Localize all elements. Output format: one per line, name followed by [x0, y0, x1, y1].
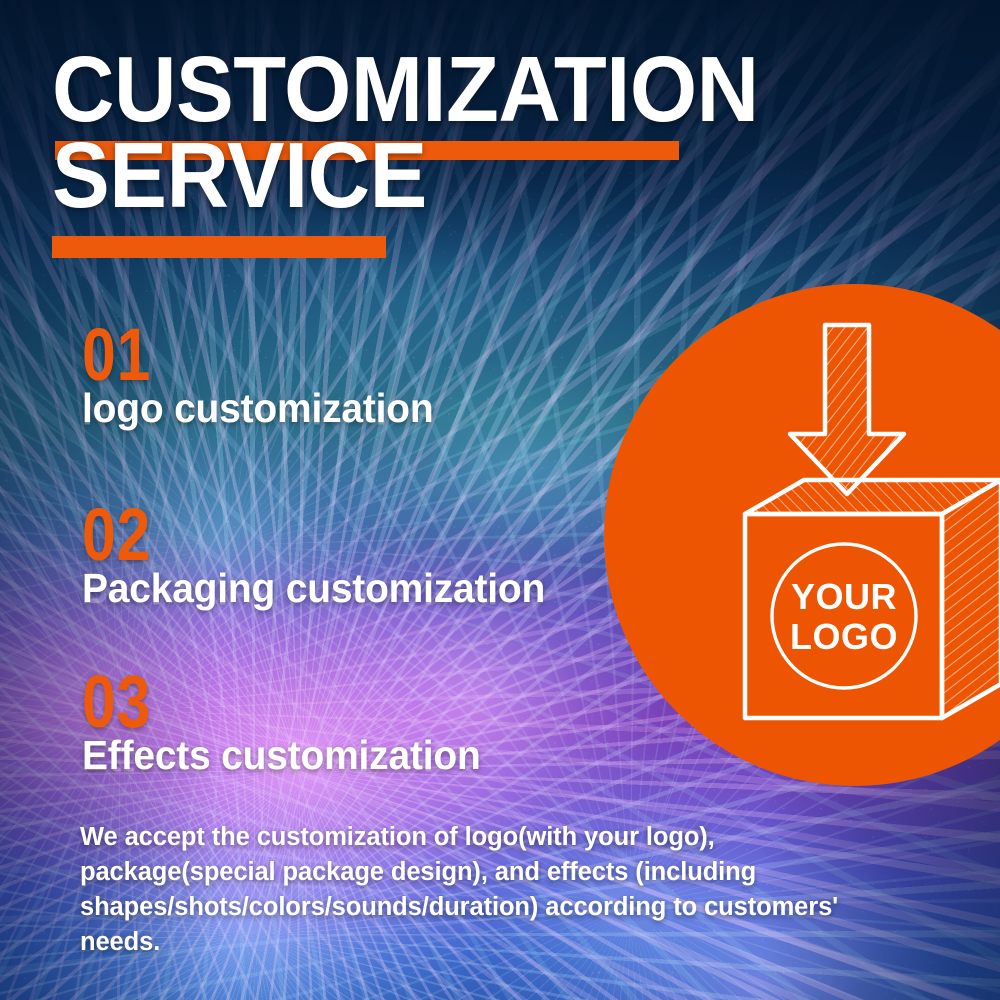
- feature-label-01: logo customization: [82, 388, 433, 429]
- customization-service-poster: CUSTOMIZATION SERVICE 01 logo customizat…: [0, 0, 1000, 1000]
- feature-number-03: 03: [82, 672, 426, 731]
- title-line-primary: CUSTOMIZATION: [52, 46, 722, 132]
- feature-label-02: Packaging customization: [82, 568, 545, 609]
- body-paragraph: We accept the customization of logo(with…: [80, 820, 855, 960]
- page-title: CUSTOMIZATION SERVICE: [52, 46, 772, 219]
- arrow-down-icon: [790, 325, 904, 494]
- title-underline-bar-2: [52, 236, 386, 258]
- feature-item-02: 02 Packaging customization Packaging cus…: [82, 505, 570, 651]
- logo-text-line-2: LOGO: [790, 616, 898, 657]
- feature-item-03: 03 Effects customization Effects customi…: [82, 672, 502, 818]
- logo-text-line-1: YOUR: [791, 576, 897, 617]
- feature-number-01: 01: [82, 325, 385, 384]
- logo-badge-artwork: YOUR LOGO: [604, 284, 1000, 786]
- feature-item-01: 01 logo customization logo customization: [82, 325, 452, 471]
- your-logo-placeholder: YOUR LOGO: [772, 544, 916, 688]
- feature-number-02: 02: [82, 505, 482, 564]
- feature-label-03: Effects customization: [82, 735, 481, 776]
- title-line-secondary: SERVICE: [52, 132, 722, 218]
